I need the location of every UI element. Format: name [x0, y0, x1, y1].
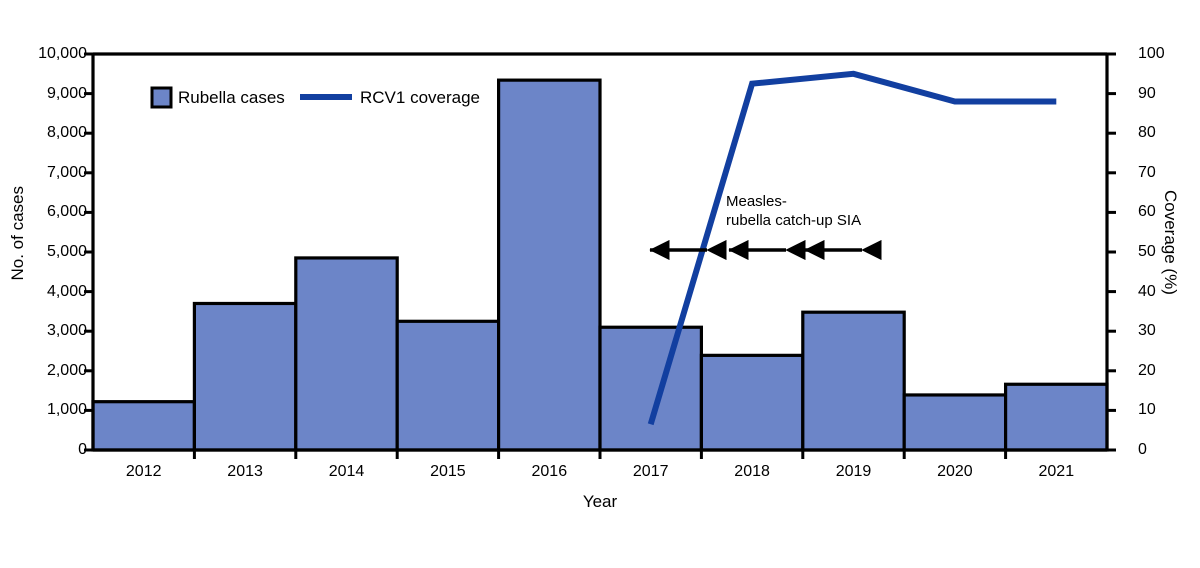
plot-area: [0, 0, 1200, 568]
sia-annotation-line2: rubella catch-up SIA: [726, 211, 861, 230]
bar-2013: [194, 303, 295, 450]
sia-annotation-line1: Measles-: [726, 192, 861, 211]
bar-2015: [397, 321, 498, 450]
legend-label-rcv1-coverage: RCV1 coverage: [360, 89, 480, 106]
rubella-cases-rcv1-coverage-chart: No. of cases Coverage (%) Year 01,0002,0…: [0, 0, 1200, 568]
bar-2012: [93, 402, 194, 450]
bar-2016: [499, 80, 600, 450]
legend-swatch-rubella-cases: [152, 88, 171, 107]
bar-2019: [803, 312, 904, 450]
bar-2021: [1006, 384, 1107, 450]
bar-2018: [701, 355, 802, 450]
bar-2020: [904, 395, 1005, 450]
bar-2014: [296, 258, 397, 450]
sia-annotation: Measles- rubella catch-up SIA: [726, 192, 861, 230]
bar-2017: [600, 327, 701, 450]
bar-series-rubella-cases: [93, 80, 1107, 450]
legend-label-rubella-cases: Rubella cases: [178, 89, 285, 106]
